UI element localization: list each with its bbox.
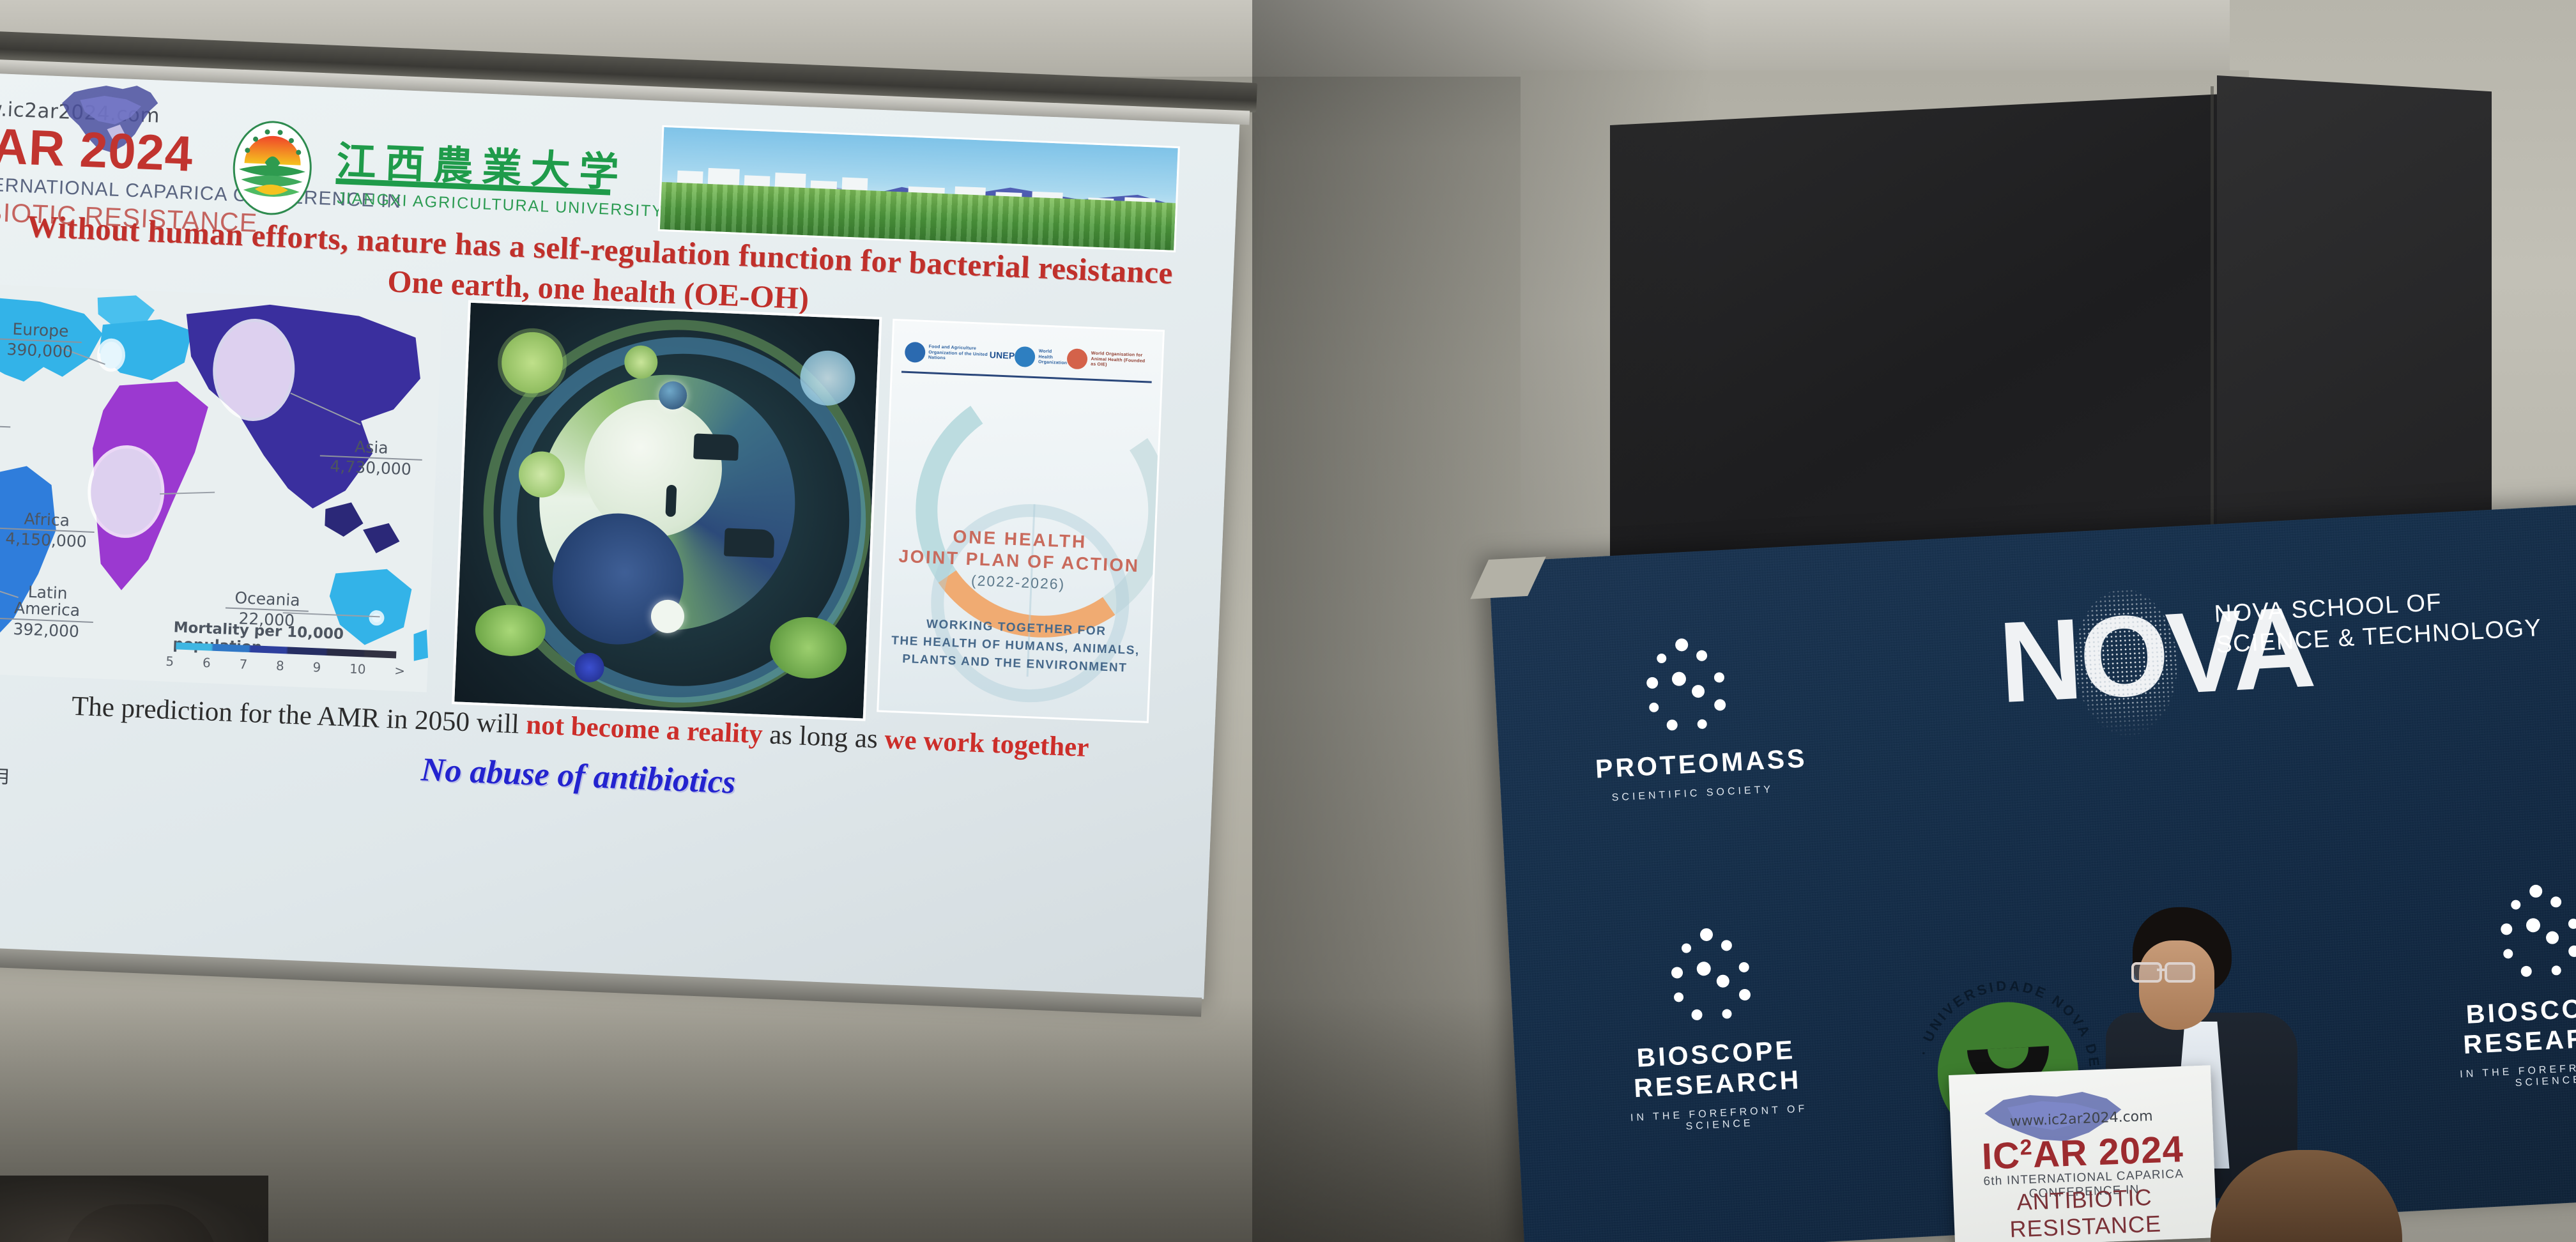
slide-date-chinese: 2024年10月 (0, 759, 11, 789)
map-label-asia: Asia 4,730,000 (319, 437, 423, 479)
agency-logo-row: Food and Agriculture Organization of the… (904, 337, 1151, 378)
footer-part-4: we work together (884, 724, 1090, 763)
campus-photo (658, 125, 1180, 252)
molecule-icon (1637, 636, 1738, 737)
svg-text:· UNIVERSIDADE NOVA DE ·: · UNIVERSIDADE NOVA DE · (1907, 972, 2103, 1079)
bioscope-name-right: BIOSCOPE RESEARCH (2439, 990, 2576, 1061)
bioscope-tagline: IN THE FOREFRONT OF SCIENCE (1613, 1103, 1825, 1137)
slide-content: www.ic2ar2024.com IC2AR 2024 6th INTERNA… (0, 73, 1239, 999)
proteomass-name: PROTEOMASS (1595, 744, 1788, 785)
jiangxi-university-logo-icon (226, 116, 319, 219)
proteomass-logo: PROTEOMASS SCIENTIFIC SOCIETY (1589, 633, 1789, 804)
seal-text: · UNIVERSIDADE NOVA DE · (1907, 972, 2103, 1079)
glasses-icon (2131, 962, 2190, 979)
map-label-latin-america: Latin America 392,000 (0, 583, 95, 641)
world-mortality-map: Europe 390,000 North America 317,000 Asi… (0, 281, 443, 693)
footer-part-2: not become a reality (525, 710, 763, 749)
molecule-icon (1662, 926, 1763, 1027)
projection-screen: www.ic2ar2024.com IC2AR 2024 6th INTERNA… (0, 26, 1296, 1043)
bioscope-logo-right: BIOSCOPE RESEARCH IN THE FOREFRONT OF SC… (2434, 879, 2576, 1093)
slide-body: Europe 390,000 North America 317,000 Asi… (0, 283, 1231, 731)
one-health-illustration (452, 300, 882, 721)
woah-logo-icon: World Organisation for Animal Health (Fo… (1067, 348, 1151, 372)
speaker-face (2139, 940, 2214, 1030)
who-logo-icon: World Health Organization (1015, 346, 1068, 369)
map-label-europe: Europe 390,000 (0, 321, 82, 362)
unep-logo-icon: UNEP (989, 349, 1015, 362)
screenshot-root: www.ic2ar2024.com IC2AR 2024 6th INTERNA… (0, 0, 2576, 1242)
footer-part-3: as long as (762, 719, 885, 755)
bioscope-tagline-right: IN THE FOREFRONT OF SCIENCE (2443, 1059, 2576, 1093)
bioscope-name: BIOSCOPE RESEARCH (1610, 1034, 1823, 1105)
foreground-shadow (0, 1176, 268, 1242)
fao-logo-icon: Food and Agriculture Organization of the… (905, 342, 990, 365)
proteomass-tagline: SCIENTIFIC SOCIETY (1597, 783, 1789, 805)
screen-surface: www.ic2ar2024.com IC2AR 2024 6th INTERNA… (0, 73, 1239, 999)
podium-sign: www.ic2ar2024.com IC2AR 2024 6th INTERNA… (1949, 1065, 2217, 1242)
podium-subtitle-2: ANTIBIOTIC RESISTANCE (1953, 1181, 2217, 1242)
bioscope-logo: BIOSCOPE RESEARCH IN THE FOREFRONT OF SC… (1604, 923, 1825, 1137)
one-health-joint-plan-poster: Food and Agriculture Organization of the… (877, 319, 1165, 723)
map-label-africa: Africa 4,150,000 (0, 510, 95, 551)
molecule-icon (2491, 882, 2576, 983)
